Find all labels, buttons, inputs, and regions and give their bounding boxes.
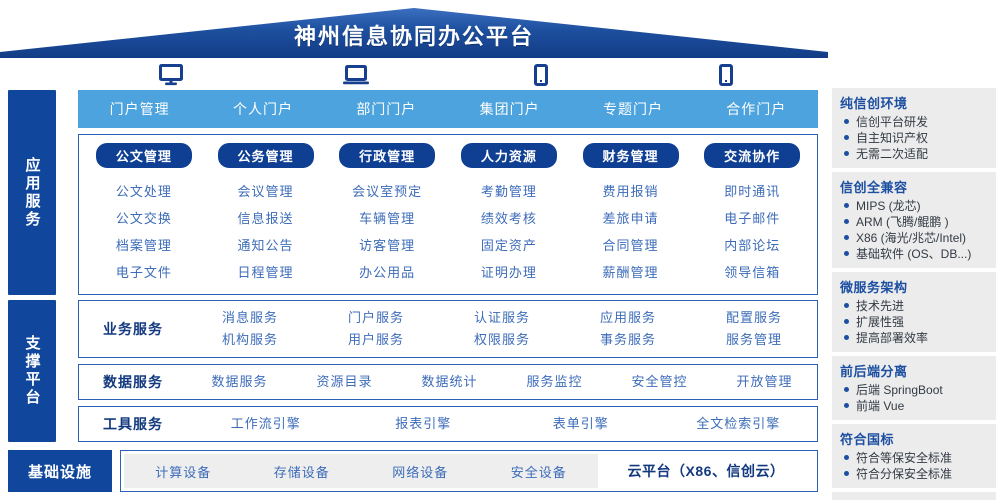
mobile-phone-icon <box>534 64 548 86</box>
feature-item-label: 信创平台研发 <box>856 114 928 130</box>
desktop-monitor-icon <box>159 64 183 86</box>
business-service-2[interactable]: 认证服务 <box>439 307 565 329</box>
app-column-1: 公务管理 会议管理 信息报送 通知公告 日程管理 <box>205 143 327 290</box>
bullet-icon <box>844 203 849 208</box>
device-laptop <box>263 64 448 86</box>
feature-item-2-2: 提高部署效率 <box>840 330 990 346</box>
infrastructure-items: 计算设备 存储设备 网络设备 安全设备 <box>124 454 598 488</box>
feature-item-label: 技术先进 <box>856 298 904 314</box>
feature-group-2: 微服务架构 技术先进 扩展性强 提高部署效率 <box>832 272 996 352</box>
feature-item-1-3: 基础软件 (OS、DB...) <box>840 246 990 262</box>
data-service-0[interactable]: 数据服务 <box>187 371 292 393</box>
feature-panel: 纯信创环境 信创平台研发 自主知识产权 无需二次适配 信创全兼容 MIPS (龙… <box>832 88 996 492</box>
tool-services-row: 工作流引擎 报表引擎 表单引擎 全文检索引擎 <box>187 413 817 435</box>
data-services-box: 数据服务 数据服务 资源目录 数据统计 服务监控 安全管控 开放管理 <box>78 364 818 400</box>
business-service-3[interactable]: 应用服务 <box>565 307 691 329</box>
feature-title-2: 微服务架构 <box>840 277 990 296</box>
data-service-3[interactable]: 服务监控 <box>502 371 607 393</box>
bullet-icon <box>844 455 849 460</box>
tool-service-3[interactable]: 全文检索引擎 <box>660 413 818 435</box>
business-service-6[interactable]: 用户服务 <box>313 329 439 351</box>
infrastructure-item-3[interactable]: 安全设备 <box>480 462 599 481</box>
business-services-title: 业务服务 <box>79 319 187 339</box>
app-item-2-3[interactable]: 办公用品 <box>359 262 415 281</box>
bullet-icon <box>844 319 849 324</box>
feature-item-1-2: X86 (海光/兆芯/Intel) <box>840 230 990 246</box>
business-services-row-2: 机构服务 用户服务 权限服务 事务服务 服务管理 <box>187 329 817 351</box>
bullet-icon <box>844 219 849 224</box>
app-item-2-2[interactable]: 访客管理 <box>359 235 415 254</box>
bullet-icon <box>844 235 849 240</box>
app-column-header-2[interactable]: 行政管理 <box>339 143 435 168</box>
app-column-header-4[interactable]: 财务管理 <box>583 143 679 168</box>
infrastructure-item-0[interactable]: 计算设备 <box>124 462 243 481</box>
app-item-4-3[interactable]: 薪酬管理 <box>603 262 659 281</box>
feature-item-0-0: 信创平台研发 <box>840 114 990 130</box>
app-item-2-0[interactable]: 会议室预定 <box>352 181 422 200</box>
portal-item-1[interactable]: 个人门户 <box>201 99 324 119</box>
app-column-2: 行政管理 会议室预定 车辆管理 访客管理 办公用品 <box>326 143 448 290</box>
feature-title-4: 符合国标 <box>840 429 990 448</box>
business-services-box: 业务服务 消息服务 门户服务 认证服务 应用服务 配置服务 机构服务 用户服务 … <box>78 300 818 358</box>
bullet-icon <box>844 335 849 340</box>
feature-item-2-0: 技术先进 <box>840 298 990 314</box>
feature-title-0: 纯信创环境 <box>840 93 990 112</box>
feature-item-4-0: 符合等保安全标准 <box>840 450 990 466</box>
app-item-1-1[interactable]: 信息报送 <box>238 208 294 227</box>
feature-item-label: ARM (飞腾/鲲鹏 ) <box>856 214 949 230</box>
tool-service-0[interactable]: 工作流引擎 <box>187 413 345 435</box>
app-item-2-1[interactable]: 车辆管理 <box>359 208 415 227</box>
data-service-4[interactable]: 安全管控 <box>607 371 712 393</box>
feature-item-label: 后端 SpringBoot <box>856 382 943 398</box>
app-item-5-1[interactable]: 电子邮件 <box>724 208 780 227</box>
layer-label-infrastructure: 基础设施 <box>8 450 112 492</box>
app-item-3-0[interactable]: 考勤管理 <box>481 181 537 200</box>
app-item-4-0[interactable]: 费用报销 <box>603 181 659 200</box>
feature-title-1: 信创全兼容 <box>840 177 990 196</box>
device-desktop <box>78 64 263 86</box>
title-banner: 神州信息协同办公平台 <box>0 0 828 60</box>
feature-item-label: MIPS (龙芯) <box>856 198 921 214</box>
feature-item-3-0: 后端 SpringBoot <box>840 382 990 398</box>
app-item-0-1[interactable]: 公文交换 <box>116 208 172 227</box>
tool-services-title: 工具服务 <box>79 414 187 434</box>
business-service-8[interactable]: 事务服务 <box>565 329 691 351</box>
infrastructure-cloud-platform[interactable]: 云平台（X86、信创云） <box>598 454 814 488</box>
portal-item-5[interactable]: 合作门户 <box>695 99 818 119</box>
feature-item-1-0: MIPS (龙芯) <box>840 198 990 214</box>
infrastructure-item-1[interactable]: 存储设备 <box>243 462 362 481</box>
app-item-1-3[interactable]: 日程管理 <box>238 262 294 281</box>
infrastructure-box: 计算设备 存储设备 网络设备 安全设备 云平台（X86、信创云） <box>120 450 818 492</box>
app-item-5-2[interactable]: 内部论坛 <box>724 235 780 254</box>
app-item-0-3[interactable]: 电子文件 <box>116 262 172 281</box>
bullet-icon <box>844 135 849 140</box>
portal-item-0[interactable]: 门户管理 <box>78 99 201 119</box>
data-services-title: 数据服务 <box>79 372 187 392</box>
feature-item-0-1: 自主知识产权 <box>840 130 990 146</box>
business-service-5[interactable]: 机构服务 <box>187 329 313 351</box>
feature-group-5: 接口丰富 开放API管理 <box>832 492 996 500</box>
app-column-header-3[interactable]: 人力资源 <box>461 143 557 168</box>
device-phone-2 <box>633 64 818 86</box>
app-item-0-2[interactable]: 档案管理 <box>116 235 172 254</box>
mobile-phone-icon <box>719 64 733 86</box>
app-item-0-0[interactable]: 公文处理 <box>116 181 172 200</box>
data-service-2[interactable]: 数据统计 <box>397 371 502 393</box>
app-item-5-3[interactable]: 领导信箱 <box>724 262 780 281</box>
app-item-3-2[interactable]: 固定资产 <box>481 235 537 254</box>
portal-bar: 门户管理 个人门户 部门门户 集团门户 专题门户 合作门户 <box>78 90 818 128</box>
data-service-1[interactable]: 资源目录 <box>292 371 397 393</box>
infrastructure-item-2[interactable]: 网络设备 <box>361 462 480 481</box>
app-item-3-1[interactable]: 绩效考核 <box>481 208 537 227</box>
app-column-4: 财务管理 费用报销 差旅申请 合同管理 薪酬管理 <box>570 143 692 290</box>
application-services-box: 公文管理 公文处理 公文交换 档案管理 电子文件 公务管理 会议管理 信息报送 … <box>78 134 818 295</box>
device-icon-row <box>78 60 818 90</box>
layer-label-application-services: 应用服务 <box>8 90 56 295</box>
bullet-icon <box>844 119 849 124</box>
app-column-0: 公文管理 公文处理 公文交换 档案管理 电子文件 <box>83 143 205 290</box>
app-column-header-1[interactable]: 公务管理 <box>218 143 314 168</box>
data-services-row: 数据服务 资源目录 数据统计 服务监控 安全管控 开放管理 <box>187 371 817 393</box>
tool-service-1[interactable]: 报表引擎 <box>345 413 503 435</box>
business-service-9[interactable]: 服务管理 <box>691 329 817 351</box>
feature-item-label: 无需二次适配 <box>856 146 928 162</box>
tool-service-2[interactable]: 表单引擎 <box>502 413 660 435</box>
feature-item-1-1: ARM (飞腾/鲲鹏 ) <box>840 214 990 230</box>
app-item-5-0[interactable]: 即时通讯 <box>724 181 780 200</box>
feature-item-0-2: 无需二次适配 <box>840 146 990 162</box>
feature-item-label: 自主知识产权 <box>856 130 928 146</box>
feature-group-3: 前后端分离 后端 SpringBoot 前端 Vue <box>832 356 996 420</box>
bullet-icon <box>844 251 849 256</box>
layer-label-support-platform: 支撑平台 <box>8 300 56 442</box>
app-column-header-5[interactable]: 交流协作 <box>704 143 800 168</box>
bullet-icon <box>844 471 849 476</box>
app-item-1-0[interactable]: 会议管理 <box>238 181 294 200</box>
bullet-icon <box>844 151 849 156</box>
feature-group-4: 符合国标 符合等保安全标准 符合分保安全标准 <box>832 424 996 488</box>
bullet-icon <box>844 403 849 408</box>
app-item-1-2[interactable]: 通知公告 <box>238 235 294 254</box>
tool-services-box: 工具服务 工作流引擎 报表引擎 表单引擎 全文检索引擎 <box>78 406 818 442</box>
business-service-7[interactable]: 权限服务 <box>439 329 565 351</box>
business-service-1[interactable]: 门户服务 <box>313 307 439 329</box>
feature-item-label: X86 (海光/兆芯/Intel) <box>856 230 966 246</box>
feature-item-label: 提高部署效率 <box>856 330 928 346</box>
portal-item-4[interactable]: 专题门户 <box>571 99 694 119</box>
app-column-header-0[interactable]: 公文管理 <box>96 143 192 168</box>
bullet-icon <box>844 387 849 392</box>
data-service-5[interactable]: 开放管理 <box>712 371 817 393</box>
feature-title-3: 前后端分离 <box>840 361 990 380</box>
feature-item-3-1: 前端 Vue <box>840 398 990 414</box>
portal-item-3[interactable]: 集团门户 <box>448 99 571 119</box>
feature-item-label: 基础软件 (OS、DB...) <box>856 246 971 262</box>
app-item-4-1[interactable]: 差旅申请 <box>603 208 659 227</box>
laptop-icon <box>343 64 369 86</box>
feature-item-label: 扩展性强 <box>856 314 904 330</box>
feature-item-4-1: 符合分保安全标准 <box>840 466 990 482</box>
feature-item-label: 符合分保安全标准 <box>856 466 952 482</box>
feature-item-label: 符合等保安全标准 <box>856 450 952 466</box>
bullet-icon <box>844 303 849 308</box>
portal-item-2[interactable]: 部门门户 <box>325 99 448 119</box>
device-phone-1 <box>448 64 633 86</box>
app-column-3: 人力资源 考勤管理 绩效考核 固定资产 证明办理 <box>448 143 570 290</box>
app-column-5: 交流协作 即时通讯 电子邮件 内部论坛 领导信箱 <box>691 143 813 290</box>
architecture-diagram: 神州信息协同办公平台 <box>0 0 1000 500</box>
feature-item-label: 前端 Vue <box>856 398 904 414</box>
business-service-4[interactable]: 配置服务 <box>691 307 817 329</box>
business-services-row-1: 消息服务 门户服务 认证服务 应用服务 配置服务 <box>187 307 817 329</box>
feature-item-2-1: 扩展性强 <box>840 314 990 330</box>
feature-group-0: 纯信创环境 信创平台研发 自主知识产权 无需二次适配 <box>832 88 996 168</box>
page-title: 神州信息协同办公平台 <box>0 24 828 50</box>
feature-group-1: 信创全兼容 MIPS (龙芯) ARM (飞腾/鲲鹏 ) X86 (海光/兆芯/… <box>832 172 996 268</box>
app-item-3-3[interactable]: 证明办理 <box>481 262 537 281</box>
app-item-4-2[interactable]: 合同管理 <box>603 235 659 254</box>
business-service-0[interactable]: 消息服务 <box>187 307 313 329</box>
